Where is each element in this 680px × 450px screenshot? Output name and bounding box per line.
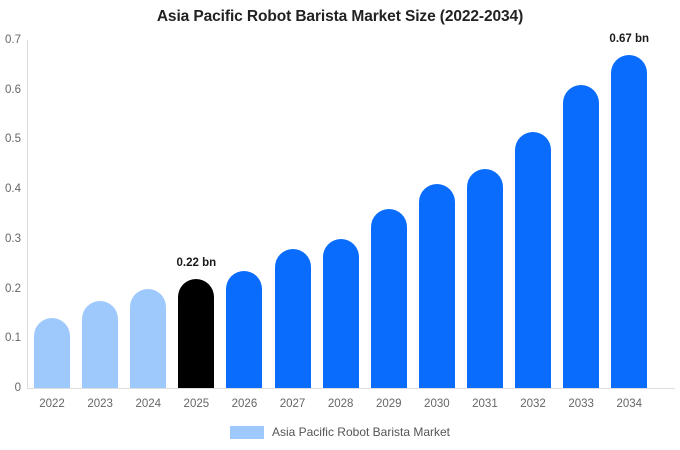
chart-legend: Asia Pacific Robot Barista Market <box>0 425 680 439</box>
x-axis-tick-2026: 2026 <box>220 398 268 410</box>
x-axis-tick-2034: 2034 <box>605 398 653 410</box>
bar-2025[interactable] <box>178 279 214 388</box>
x-axis-tick-2023: 2023 <box>76 398 124 410</box>
legend-swatch <box>230 426 264 439</box>
x-axis-tick-2027: 2027 <box>269 398 317 410</box>
x-axis-tick-2031: 2031 <box>461 398 509 410</box>
x-axis-tick-2030: 2030 <box>413 398 461 410</box>
x-axis-tick-2024: 2024 <box>124 398 172 410</box>
bar-2026[interactable] <box>226 271 262 388</box>
x-axis-tick-2032: 2032 <box>509 398 557 410</box>
chart-container: Asia Pacific Robot Barista Market Size (… <box>0 0 680 450</box>
bar-2029[interactable] <box>371 209 407 388</box>
x-axis-tick-2029: 2029 <box>365 398 413 410</box>
bar-2028[interactable] <box>323 239 359 388</box>
x-axis-tick-2025: 2025 <box>172 398 220 410</box>
x-axis-tick-2033: 2033 <box>557 398 605 410</box>
value-label-2034: 0.67 bn <box>593 33 665 45</box>
bar-2033[interactable] <box>563 85 599 388</box>
bar-2030[interactable] <box>419 184 455 388</box>
bar-2034[interactable] <box>611 55 647 388</box>
bar-2024[interactable] <box>130 289 166 388</box>
bar-2023[interactable] <box>82 301 118 388</box>
bar-2031[interactable] <box>467 169 503 388</box>
bars-layer: 20222023202420250.22 bn20262027202820292… <box>0 0 680 450</box>
bar-2022[interactable] <box>34 318 70 388</box>
bar-2032[interactable] <box>515 132 551 388</box>
x-axis-tick-2028: 2028 <box>317 398 365 410</box>
bar-2027[interactable] <box>275 249 311 388</box>
x-axis-tick-2022: 2022 <box>28 398 76 410</box>
legend-label: Asia Pacific Robot Barista Market <box>272 425 450 439</box>
value-label-2025: 0.22 bn <box>160 257 232 269</box>
